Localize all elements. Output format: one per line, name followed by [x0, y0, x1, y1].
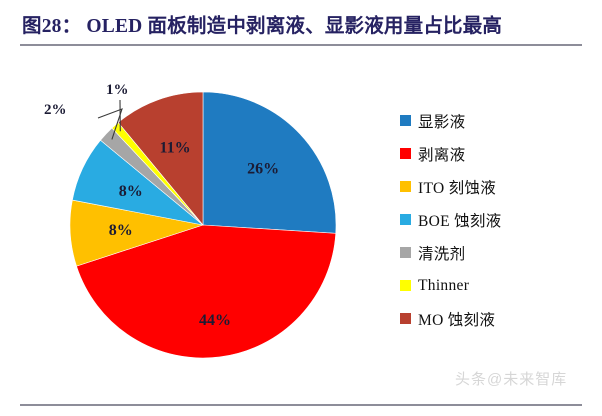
pie-slice-label: 8% [119, 183, 143, 200]
title-divider [20, 44, 582, 46]
legend-item-label: MO 蚀刻液 [418, 308, 495, 330]
figure-title-bar: 图28： OLED 面板制造中剥离液、显影液用量占比最高 [22, 14, 582, 48]
watermark: 头条@未来智库 [455, 368, 585, 390]
pie-chart-svg: 26%44%8%8%11%2%1% [36, 62, 386, 392]
legend-color-swatch [400, 247, 411, 258]
legend-item[interactable]: BOE 蚀刻液 [400, 203, 590, 236]
pie-slice-label-outside: 1% [106, 82, 129, 98]
pie-slice-label: 8% [109, 222, 133, 239]
legend-item-label: Thinner [418, 277, 469, 295]
page-title: 图28： OLED 面板制造中剥离液、显影液用量占比最高 [22, 14, 582, 40]
legend-item[interactable]: 显影液 [400, 104, 590, 137]
legend-item-label: 显影液 [418, 110, 465, 132]
pie-slice-label: 44% [199, 312, 231, 329]
legend-item-label: 剥离液 [418, 143, 465, 165]
legend-color-swatch [400, 181, 411, 192]
legend-item[interactable]: ITO 刻蚀液 [400, 170, 590, 203]
pie-slice-label-outside: 2% [44, 102, 67, 118]
legend-item-label: 清洗剂 [418, 242, 465, 264]
legend-color-swatch [400, 115, 411, 126]
pie-chart-plot-area: 26%44%8%8%11%2%1% [36, 62, 386, 392]
pie-slice-label: 26% [247, 161, 279, 178]
legend-color-swatch [400, 313, 411, 324]
legend-color-swatch [400, 214, 411, 225]
legend-item[interactable]: 剥离液 [400, 137, 590, 170]
legend-item-label: ITO 刻蚀液 [418, 176, 496, 198]
legend-color-swatch [400, 280, 411, 291]
bottom-divider [20, 404, 582, 406]
legend-item[interactable]: 清洗剂 [400, 236, 590, 269]
legend-item[interactable]: Thinner [400, 269, 590, 302]
legend-item-label: BOE 蚀刻液 [418, 209, 501, 231]
legend-item[interactable]: MO 蚀刻液 [400, 302, 590, 335]
pie-slice-label: 11% [160, 139, 191, 156]
figure-container: 图28： OLED 面板制造中剥离液、显影液用量占比最高 26%44%8%8%1… [0, 0, 602, 416]
legend-color-swatch [400, 148, 411, 159]
chart-legend: 显影液剥离液ITO 刻蚀液BOE 蚀刻液清洗剂ThinnerMO 蚀刻液 [400, 104, 590, 335]
